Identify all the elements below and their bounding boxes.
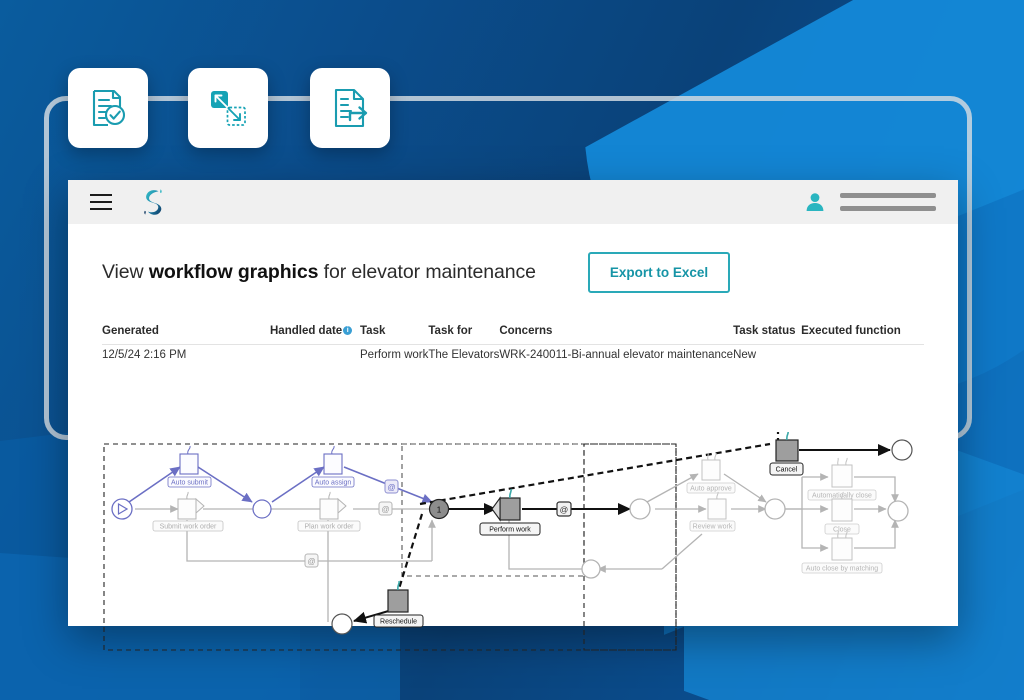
node-label: Review work <box>693 524 733 531</box>
mail-marker-icon: @ <box>385 480 398 493</box>
node-junction-2[interactable] <box>630 499 650 519</box>
node-automatically-close[interactable]: Automatically close <box>808 458 876 500</box>
feature-card-drag-select <box>188 68 268 148</box>
task-table-body: 12/5/24 2:16 PM Perform work The Elevato… <box>102 345 924 366</box>
document-export-icon <box>328 86 372 130</box>
node-submit-work-order[interactable]: Submit work order <box>153 492 223 531</box>
edge-to-automatch <box>802 509 828 548</box>
node-cancel[interactable]: Cancel <box>770 432 803 475</box>
node-label: Auto approve <box>690 486 732 493</box>
node-label: Perform work <box>489 527 531 534</box>
node-start[interactable] <box>112 499 132 519</box>
cell-task: Perform work <box>360 345 428 366</box>
hamburger-menu-icon[interactable] <box>90 194 112 210</box>
user-avatar-icon[interactable] <box>804 191 826 213</box>
node-label: Reschedule <box>380 619 417 626</box>
node-junction-3[interactable] <box>765 499 785 519</box>
drag-select-icon <box>206 86 250 130</box>
cell-executed-function <box>801 345 924 366</box>
node-label: Auto submit <box>171 480 208 487</box>
workflow-diagram-svg: @ @ @ @ <box>102 432 926 654</box>
svg-text:@: @ <box>560 505 569 515</box>
page-title-bold: workflow graphics <box>149 261 319 283</box>
column-header-task-for[interactable]: Task for <box>428 325 499 345</box>
page-title: View workflow graphics for elevator main… <box>102 261 536 284</box>
node-plan-work-order[interactable]: Plan work order <box>298 492 360 531</box>
app-header-right <box>804 191 936 213</box>
node-auto-close-by-matching[interactable]: Auto close by matching <box>802 531 882 573</box>
column-header-task-status[interactable]: Task status <box>733 325 801 345</box>
svg-text:@: @ <box>381 505 389 514</box>
table-header-row: Generated Handled datei Task Task for Co… <box>102 325 924 345</box>
cell-handled-date <box>270 345 360 366</box>
mail-marker-icon: @ <box>305 554 318 567</box>
symbrio-s-logo <box>140 188 166 216</box>
page-title-row: View workflow graphics for elevator main… <box>102 252 924 293</box>
document-check-icon <box>86 86 130 130</box>
column-header-concerns[interactable]: Concerns <box>499 325 733 345</box>
cell-task-for: The Elevators <box>428 345 499 366</box>
node-counter-current[interactable]: 1 <box>430 500 449 519</box>
cell-generated: 12/5/24 2:16 PM <box>102 345 270 366</box>
svg-text:@: @ <box>307 557 315 566</box>
swimlane-box-review <box>584 444 676 650</box>
table-row[interactable]: 12/5/24 2:16 PM Perform work The Elevato… <box>102 345 924 366</box>
column-header-handled-date[interactable]: Handled datei <box>270 325 360 345</box>
node-auto-submit[interactable]: Auto submit <box>168 446 211 487</box>
node-label: Cancel <box>776 467 798 474</box>
page-title-suffix: for elevator maintenance <box>318 261 536 283</box>
node-label: Close <box>833 527 851 534</box>
svg-text:@: @ <box>387 483 395 492</box>
node-review-work[interactable]: Review work <box>690 492 735 531</box>
column-header-handled-date-label: Handled date <box>270 325 342 337</box>
node-auto-assign[interactable]: Auto assign <box>312 446 354 487</box>
header-placeholder-lines <box>840 193 936 211</box>
edge-join3-up <box>784 477 802 509</box>
cell-task-status: New <box>733 345 801 366</box>
node-label: Auto close by matching <box>806 566 878 573</box>
column-header-executed-function[interactable]: Executed function <box>801 325 924 345</box>
app-header-bar <box>68 180 958 224</box>
mail-marker-icon: @ <box>379 502 392 515</box>
node-reschedule[interactable]: Reschedule <box>374 581 423 627</box>
feature-card-document-check <box>68 68 148 148</box>
page-content: View workflow graphics for elevator main… <box>68 224 958 626</box>
node-counter-value: 1 <box>437 505 442 515</box>
edge-automatch-to-end <box>854 520 895 548</box>
node-junction-1[interactable] <box>253 500 271 518</box>
mail-marker-icon-active: @ <box>557 502 571 516</box>
edge-review-to-loop <box>662 534 702 569</box>
node-junction-loop[interactable] <box>582 560 600 578</box>
node-label: Submit work order <box>160 524 217 531</box>
app-logo[interactable] <box>140 188 166 216</box>
node-end-cancel[interactable] <box>892 440 912 460</box>
edge-count-to-reschedule <box>398 514 422 592</box>
node-perform-work[interactable]: Perform work <box>480 489 540 535</box>
column-header-generated[interactable]: Generated <box>102 325 270 345</box>
page-title-prefix: View <box>102 261 149 283</box>
cell-concerns-link[interactable]: WRK-240011-Bi-annual elevator maintenanc… <box>499 345 733 366</box>
column-header-task[interactable]: Task <box>360 325 428 345</box>
node-end-reschedule[interactable] <box>332 614 352 634</box>
app-window: View workflow graphics for elevator main… <box>68 180 958 626</box>
task-table: Generated Handled datei Task Task for Co… <box>102 325 924 365</box>
export-to-excel-button[interactable]: Export to Excel <box>588 252 730 293</box>
feature-card-document-export <box>310 68 390 148</box>
task-table-head: Generated Handled datei Task Task for Co… <box>102 325 924 345</box>
node-auto-approve[interactable]: Auto approve <box>687 453 735 493</box>
workflow-diagram[interactable]: @ @ @ @ <box>102 432 926 659</box>
node-end[interactable] <box>888 501 908 521</box>
info-icon[interactable]: i <box>343 326 352 335</box>
node-label: Auto assign <box>315 480 352 487</box>
node-label: Plan work order <box>304 524 354 531</box>
